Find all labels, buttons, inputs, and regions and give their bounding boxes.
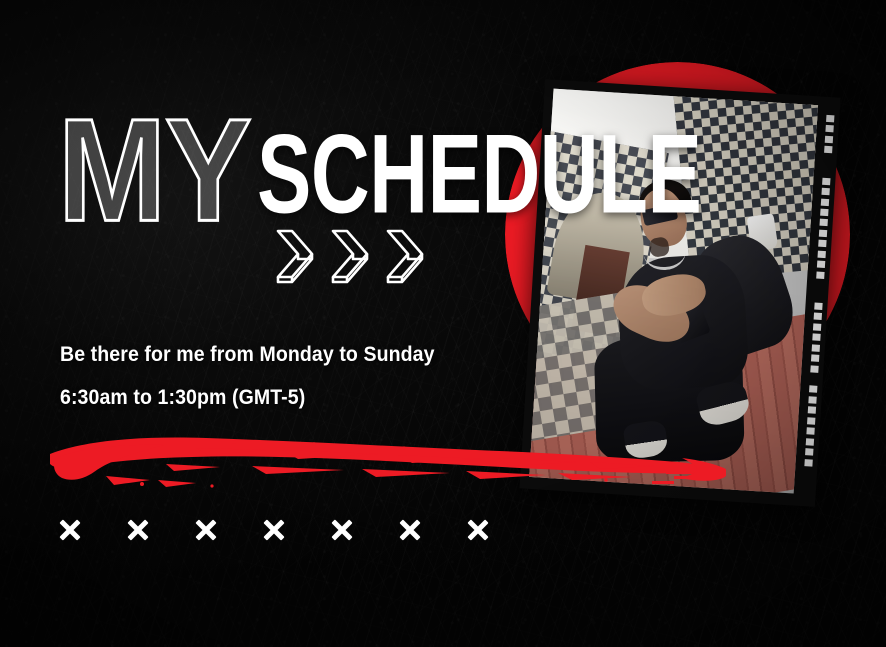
title-word-my: MY [58,109,251,232]
double-chevron-right-3d-icon [327,228,373,286]
x-mark-icon [194,518,218,542]
x-mark-icon [126,518,150,542]
schedule-time-line: 6:30am to 1:30pm (GMT-5) [60,387,435,408]
chevron-group [272,228,428,286]
schedule-details: Be there for me from Monday to Sunday 6:… [60,344,463,408]
title-word-schedule: SCHEDULE [257,125,701,226]
double-chevron-right-3d-icon [382,228,428,286]
x-mark-icon [262,518,286,542]
x-mark-row [58,518,490,542]
page-title: MY SCHEDULE [58,126,715,232]
schedule-poster: MY SCHEDULE Be there for me from Monday … [0,0,886,647]
double-chevron-right-3d-icon [272,228,318,286]
x-mark-icon [58,518,82,542]
x-mark-icon [398,518,422,542]
x-mark-icon [330,518,354,542]
x-mark-icon [466,518,490,542]
schedule-days-line: Be there for me from Monday to Sunday [60,344,435,365]
